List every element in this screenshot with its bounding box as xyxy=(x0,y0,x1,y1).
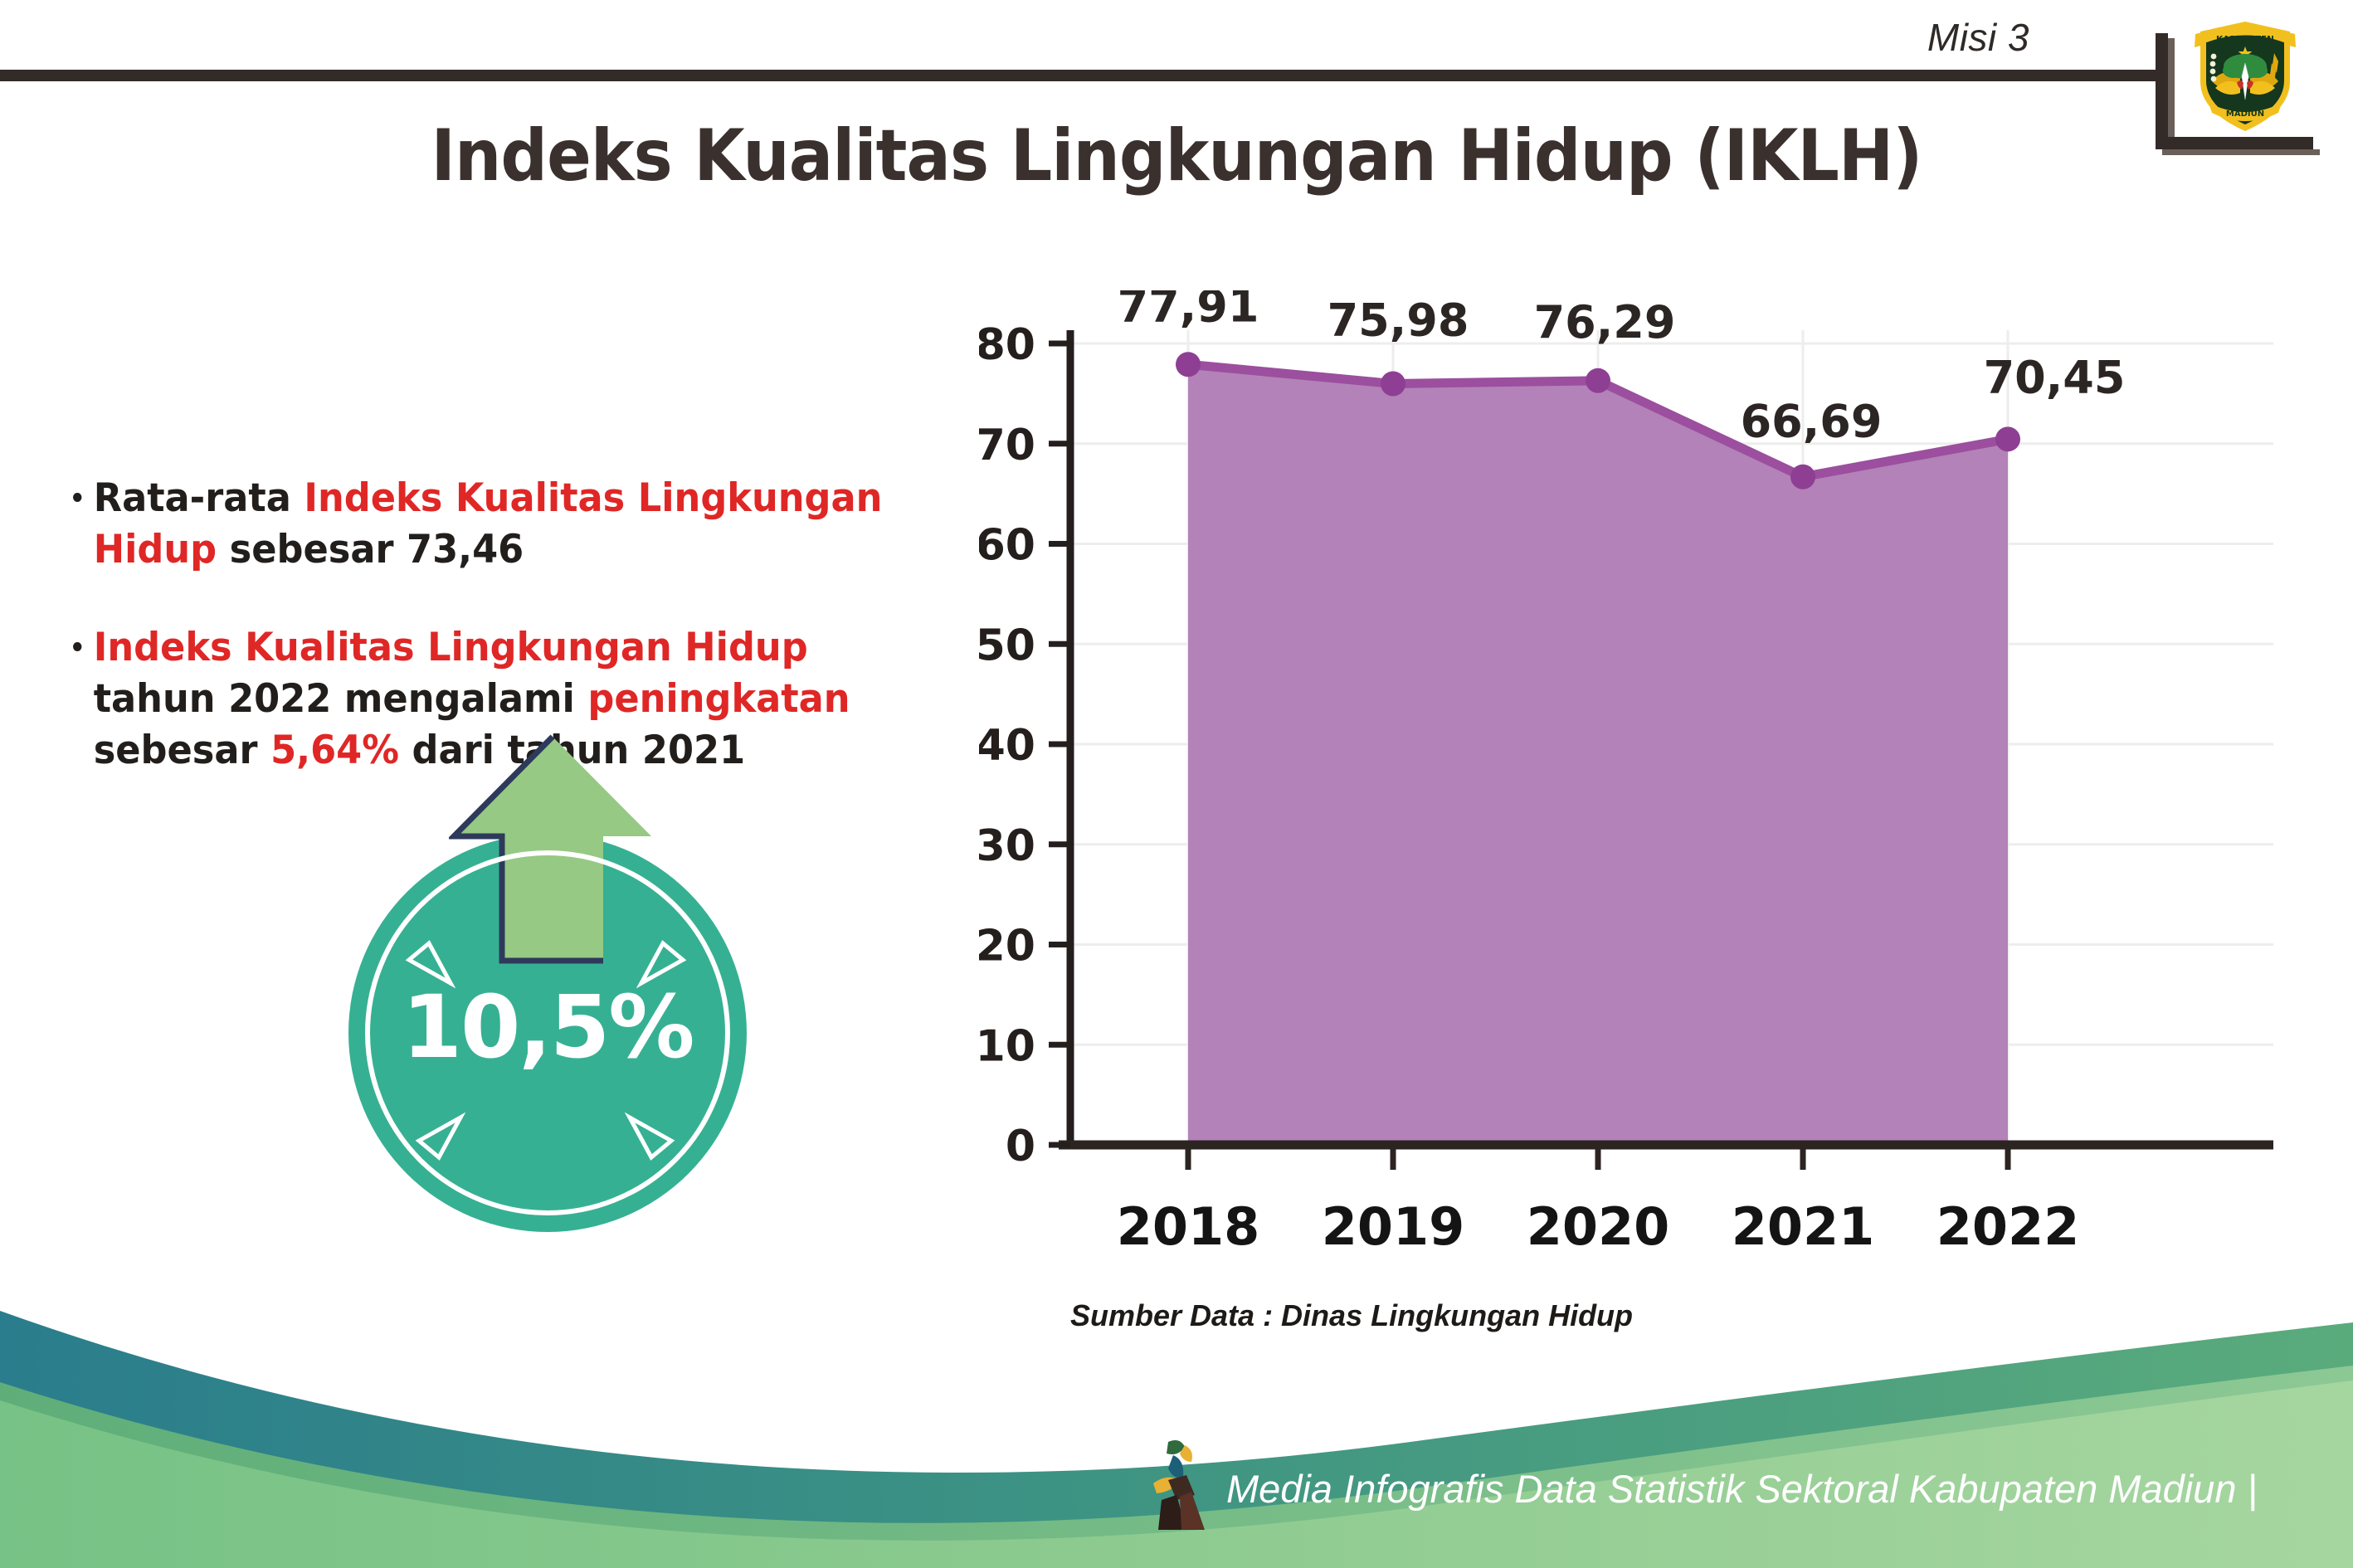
header-divider-line xyxy=(0,70,2167,81)
chart-data-label: 66,69 xyxy=(1741,396,1883,448)
increase-badge: 10,5% xyxy=(328,751,767,1191)
y-tick-label: 40 xyxy=(979,721,1035,771)
chart-marker xyxy=(1790,465,1815,489)
page-title: Indeks Kualitas Lingkungan Hidup (IKLH) xyxy=(94,114,2258,197)
emblem-top-label: KABUPATEN xyxy=(2216,35,2274,45)
chart-data-label: 76,29 xyxy=(1534,296,1676,348)
chart-data-label: 70,45 xyxy=(1984,351,2126,403)
y-tick-label: 10 xyxy=(979,1021,1035,1071)
plain-text: sebesar 73,46 xyxy=(217,527,524,572)
chart-data-label: 75,98 xyxy=(1328,295,1469,347)
x-tick-label: 2018 xyxy=(1117,1196,1260,1257)
y-tick-label: 0 xyxy=(1006,1122,1035,1171)
plain-text: tahun 2022 mengalami xyxy=(94,676,588,722)
y-tick-label: 50 xyxy=(979,621,1035,670)
chart-area-fill xyxy=(1188,364,2008,1145)
x-tick-label: 2022 xyxy=(1936,1196,2080,1257)
chart-data-label: 77,91 xyxy=(1118,290,1259,332)
iklh-area-chart: 01020304050607080 77,9175,9876,2966,6970… xyxy=(979,290,2273,1286)
bullet-dot-icon xyxy=(73,493,81,502)
bullet-item-average: Rata-rata Indeks Kualitas Lingkungan Hid… xyxy=(73,473,933,576)
chart-marker xyxy=(1995,426,2020,451)
y-tick-label: 30 xyxy=(979,821,1035,871)
footer-band: Media Infografis Data Statistik Sektoral… xyxy=(0,1294,2353,1568)
chart-y-ticks: 01020304050607080 xyxy=(979,320,1070,1171)
chart-area-series xyxy=(1188,364,2008,1145)
y-tick-label: 80 xyxy=(979,320,1035,370)
y-tick-label: 20 xyxy=(979,922,1035,971)
x-tick-label: 2019 xyxy=(1322,1196,1465,1257)
x-tick-label: 2021 xyxy=(1732,1196,1875,1257)
badge-tick-arrow-bottom-right xyxy=(625,1109,676,1161)
misi-label: Misi 3 xyxy=(1927,15,2029,60)
plain-text: sebesar xyxy=(94,728,270,773)
media-infografis-logo xyxy=(1143,1437,1215,1533)
chart-x-labels: 20182019202020212022 xyxy=(1117,1196,2080,1257)
bullet-text-average: Rata-rata Indeks Kualitas Lingkungan Hid… xyxy=(94,475,883,572)
bullet-dot-icon xyxy=(73,642,81,651)
y-tick-label: 60 xyxy=(979,521,1035,571)
footer-text: Media Infografis Data Statistik Sektoral… xyxy=(1226,1466,2258,1512)
chart-marker xyxy=(1176,352,1201,377)
chart-marker xyxy=(1381,372,1405,397)
y-tick-label: 70 xyxy=(979,421,1035,470)
badge-value-label: 10,5% xyxy=(348,976,747,1078)
highlighted-text: Indeks Kualitas Lingkungan Hidup xyxy=(94,625,808,670)
badge-tick-arrow-bottom-left xyxy=(414,1109,465,1161)
plain-text: Rata-rata xyxy=(94,475,304,521)
highlighted-text: peningkatan xyxy=(587,676,850,722)
chart-marker xyxy=(1586,368,1610,393)
x-tick-label: 2020 xyxy=(1527,1196,1670,1257)
